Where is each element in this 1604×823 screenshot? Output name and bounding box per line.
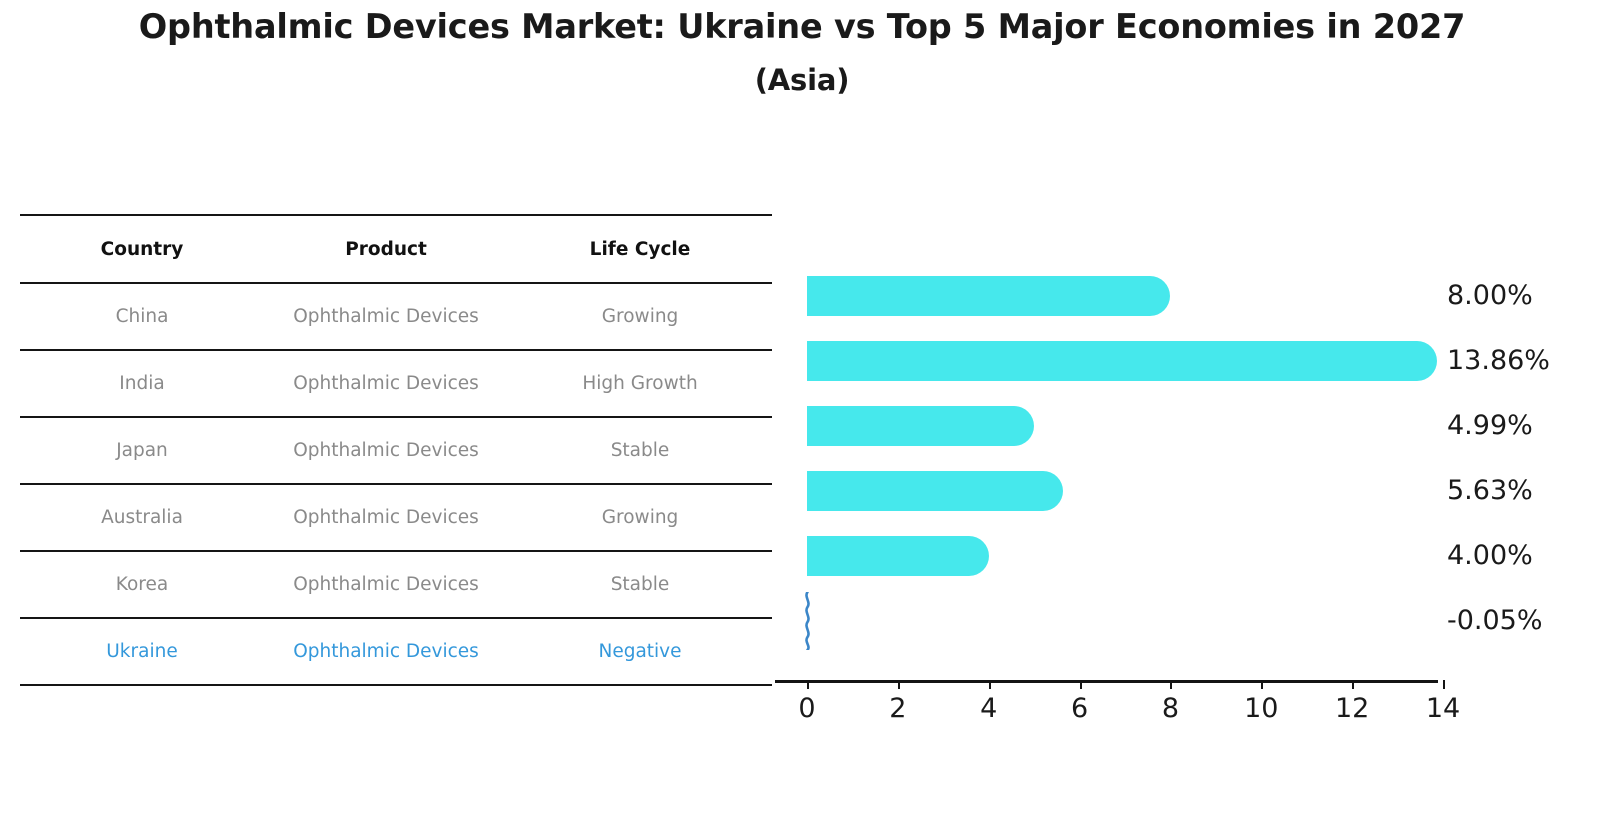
x-axis-tick-label: 14 (1426, 693, 1460, 724)
table-cell-life-cycle: Growing (508, 484, 772, 551)
x-axis-tick (1080, 680, 1082, 689)
table-cell-country: Ukraine (20, 618, 264, 685)
bar-chart-panel: 8.00%13.86%4.99%5.63%4.00%-0.05% 0246810… (775, 214, 1595, 744)
x-axis-tick-label: 6 (1071, 693, 1088, 724)
bar-korea (807, 536, 989, 576)
table-row: UkraineOphthalmic DevicesNegative (20, 618, 772, 685)
bar-value-label: 13.86% (1447, 328, 1550, 393)
x-axis-tick (1170, 680, 1172, 689)
table-cell-life-cycle: Negative (508, 618, 772, 685)
table-row: IndiaOphthalmic DevicesHigh Growth (20, 350, 772, 417)
x-axis-tick-label: 8 (1162, 693, 1179, 724)
x-axis-tick (1261, 680, 1263, 689)
table-header: Country Product Life Cycle (20, 215, 772, 283)
table-cell-life-cycle: Stable (508, 551, 772, 618)
bar-value-label: -0.05% (1447, 588, 1543, 653)
table-cell-life-cycle: High Growth (508, 350, 772, 417)
market-table: Country Product Life Cycle ChinaOphthalm… (20, 214, 772, 686)
bar-value-label: 4.00% (1447, 523, 1533, 588)
market-table-panel: Country Product Life Cycle ChinaOphthalm… (20, 214, 772, 686)
bar-row: -0.05% (775, 588, 1445, 653)
bar-row: 4.99% (775, 393, 1445, 458)
table-cell-country: China (20, 283, 264, 350)
bar-japan (807, 406, 1034, 446)
table-cell-product: Ophthalmic Devices (264, 484, 508, 551)
bar-china (807, 276, 1170, 316)
x-axis-tick-label: 2 (889, 693, 906, 724)
x-axis-line (775, 680, 1438, 683)
table-body: ChinaOphthalmic DevicesGrowingIndiaOphth… (20, 283, 772, 685)
table-cell-country: Australia (20, 484, 264, 551)
table-cell-life-cycle: Stable (508, 417, 772, 484)
table-cell-country: Japan (20, 417, 264, 484)
x-axis-tick (989, 680, 991, 689)
table-cell-product: Ophthalmic Devices (264, 551, 508, 618)
table-cell-country: Korea (20, 551, 264, 618)
x-axis-tick-label: 10 (1244, 693, 1278, 724)
column-header-product: Product (264, 215, 508, 283)
bar-row: 8.00% (775, 263, 1445, 328)
table-header-row: Country Product Life Cycle (20, 215, 772, 283)
x-axis-tick-label: 0 (798, 693, 815, 724)
bar-india (807, 341, 1437, 381)
page-title-line1: Ophthalmic Devices Market: Ukraine vs To… (0, 10, 1604, 44)
chart-title-block: Ophthalmic Devices Market: Ukraine vs To… (0, 10, 1604, 95)
bar-row: 4.00% (775, 523, 1445, 588)
bar-value-label: 4.99% (1447, 393, 1533, 458)
x-axis-tick (898, 680, 900, 689)
bar-value-label: 5.63% (1447, 458, 1533, 523)
table-cell-product: Ophthalmic Devices (264, 283, 508, 350)
table-row: AustraliaOphthalmic DevicesGrowing (20, 484, 772, 551)
table-cell-country: India (20, 350, 264, 417)
bar-ukraine (803, 592, 810, 650)
x-axis-tick (807, 680, 809, 689)
table-row: KoreaOphthalmic DevicesStable (20, 551, 772, 618)
x-axis-tick (1443, 680, 1445, 689)
column-header-country: Country (20, 215, 264, 283)
table-cell-product: Ophthalmic Devices (264, 350, 508, 417)
bar-australia (807, 471, 1063, 511)
x-axis-tick (1352, 680, 1354, 689)
bar-row: 13.86% (775, 328, 1445, 393)
x-axis-tick-label: 4 (980, 693, 997, 724)
bar-value-label: 8.00% (1447, 263, 1533, 328)
table-cell-product: Ophthalmic Devices (264, 417, 508, 484)
table-cell-life-cycle: Growing (508, 283, 772, 350)
column-header-life-cycle: Life Cycle (508, 215, 772, 283)
table-cell-product: Ophthalmic Devices (264, 618, 508, 685)
page-title-line2: (Asia) (0, 66, 1604, 95)
plot-area: 8.00%13.86%4.99%5.63%4.00%-0.05% (775, 214, 1445, 680)
bar-row: 5.63% (775, 458, 1445, 523)
table-row: ChinaOphthalmic DevicesGrowing (20, 283, 772, 350)
table-row: JapanOphthalmic DevicesStable (20, 417, 772, 484)
x-axis-tick-label: 12 (1335, 693, 1369, 724)
